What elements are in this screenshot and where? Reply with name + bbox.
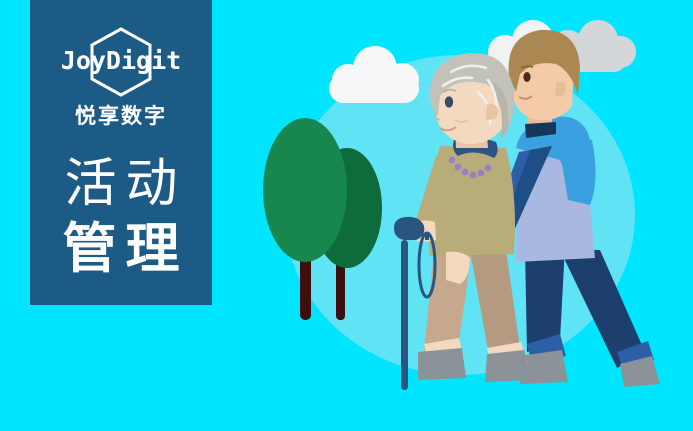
brand-panel: JoyDigit 悦享数字 活动 管理 bbox=[30, 0, 212, 305]
logo-lockup: JoyDigit bbox=[46, 24, 196, 102]
page-title-line2: 管理 bbox=[30, 218, 212, 280]
logo-subtitle: 悦享数字 bbox=[75, 104, 167, 130]
man-eye bbox=[523, 72, 530, 82]
poster-canvas: JoyDigit 悦享数字 活动 管理 bbox=[0, 0, 693, 431]
cane-handle bbox=[394, 217, 424, 240]
woman-front-shoe bbox=[418, 348, 466, 380]
logo-wordmark: JoyDigit bbox=[46, 46, 196, 76]
page-title: 活动 管理 bbox=[30, 154, 212, 280]
woman-eye bbox=[445, 96, 453, 107]
page-title-line1: 活动 bbox=[30, 154, 212, 214]
woman-back-shoe bbox=[485, 350, 532, 382]
